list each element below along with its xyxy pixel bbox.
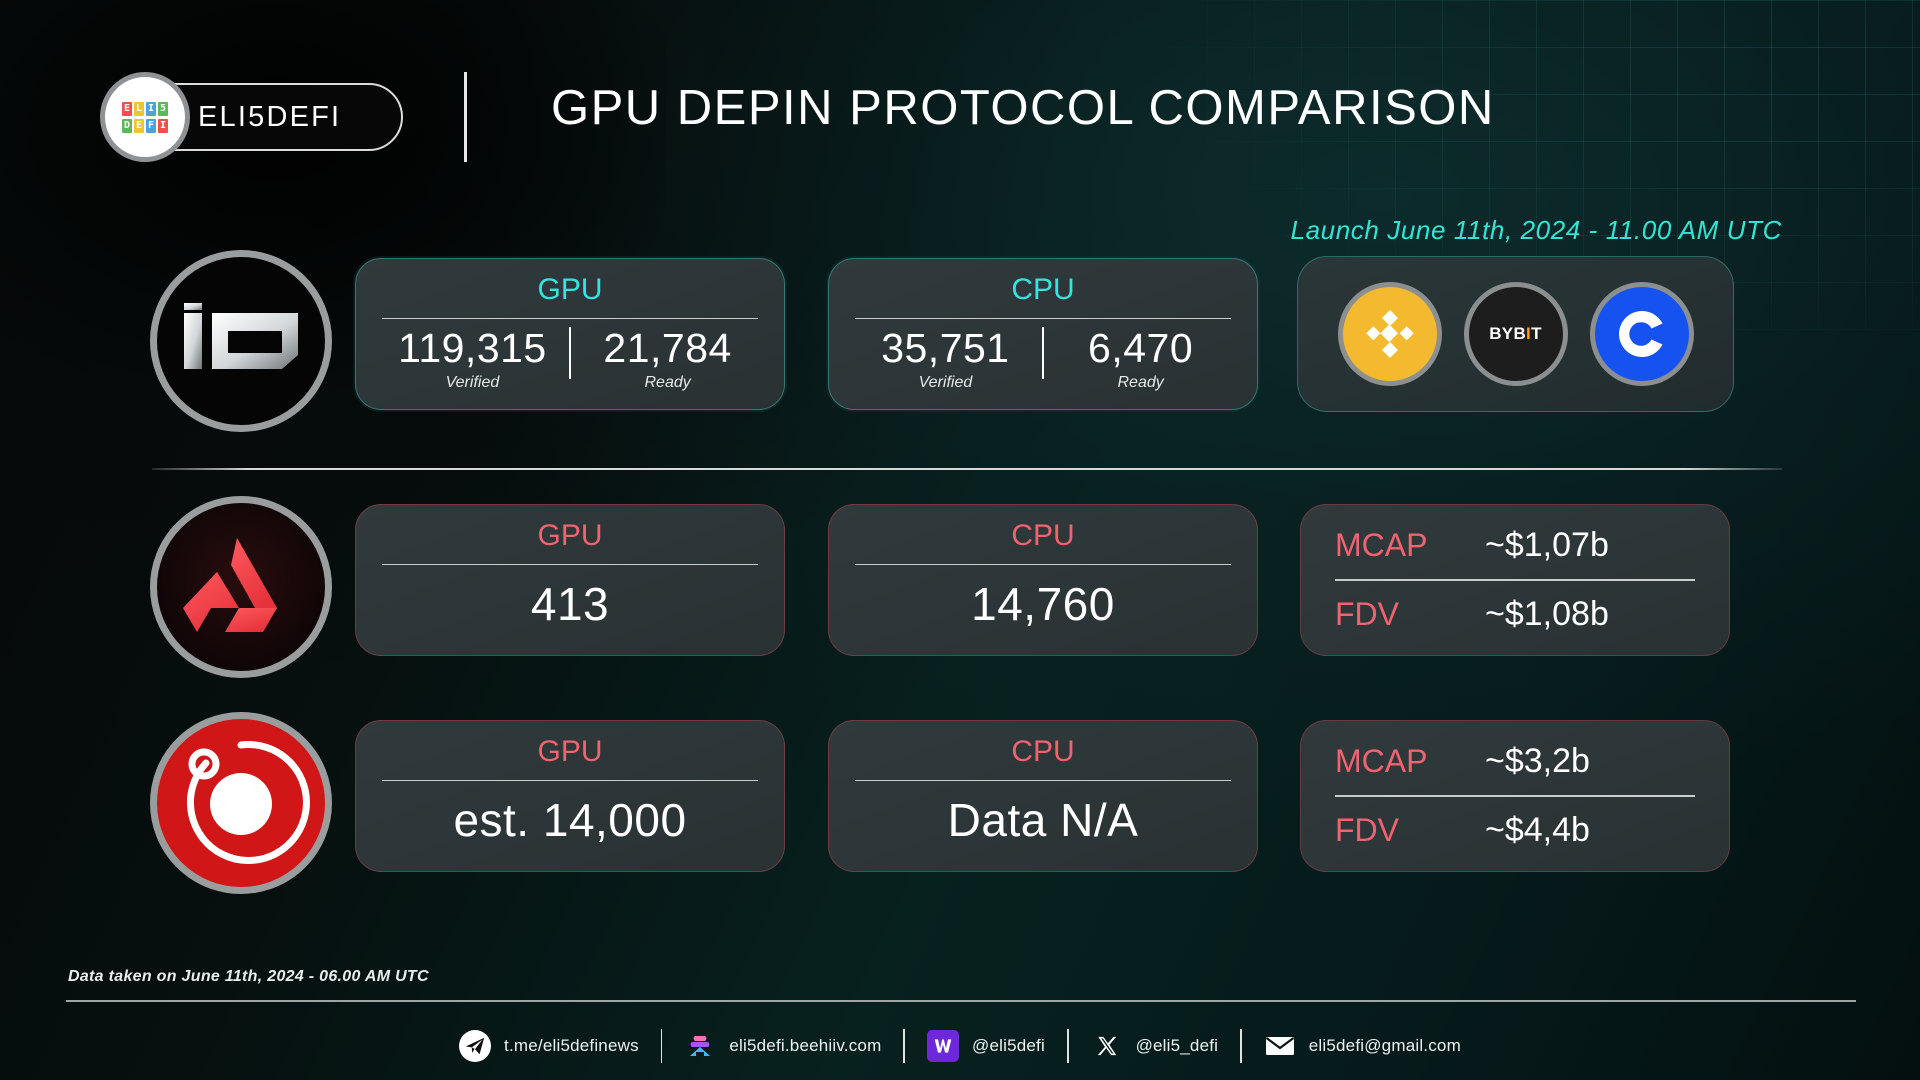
metric-value: ~$3,2b	[1485, 742, 1590, 781]
logo-letter: L	[134, 102, 144, 116]
beehiiv-icon	[684, 1030, 716, 1062]
card-rule	[855, 780, 1231, 782]
protocol-row-render: GPU est. 14,000 CPU Data N/A MCAP ~$3,2b…	[0, 712, 1920, 902]
card-rule	[382, 564, 758, 566]
binance-icon[interactable]	[1338, 282, 1442, 386]
footer-link-telegram[interactable]: t.me/eli5definews	[437, 1030, 661, 1062]
footer-link-label: @eli5_defi	[1136, 1036, 1219, 1056]
akash-glyph	[181, 532, 301, 642]
launch-note: Launch June 11th, 2024 - 11.00 AM UTC	[1291, 215, 1782, 246]
metric-label: Verified	[446, 374, 500, 392]
footer-link-label: @eli5defi	[972, 1036, 1045, 1056]
metric-value: 119,315	[398, 325, 547, 372]
bybit-icon[interactable]: BYBIT	[1464, 282, 1568, 386]
logo-letter: 5	[158, 102, 168, 116]
metric-value: est. 14,000	[453, 793, 686, 847]
metric-value: 6,470	[1088, 325, 1193, 372]
logo-letter: D	[122, 119, 132, 133]
footer-link-warpcast[interactable]: @eli5defi	[905, 1030, 1067, 1062]
render-logo-icon	[150, 712, 332, 894]
akash-logo-icon	[150, 496, 332, 678]
card-rule	[382, 318, 758, 320]
brand-label: ELI5DEFI	[198, 101, 341, 134]
metric-value: 35,751	[881, 325, 1009, 372]
infographic-stage: ELI5DEFI ELI5 DEFI GPU DEPIN PROTOCOL CO…	[0, 0, 1920, 1080]
warpcast-icon	[927, 1030, 959, 1062]
card-title: GPU	[537, 271, 602, 309]
card-split: 35,751 Verified 6,470 Ready	[855, 325, 1231, 392]
data-timestamp-note: Data taken on June 11th, 2024 - 06.00 AM…	[68, 968, 429, 986]
metric-row-mcap: MCAP ~$1,07b	[1335, 511, 1695, 579]
split-divider	[1042, 327, 1044, 379]
card-akash-valuation: MCAP ~$1,07b FDV ~$1,08b	[1300, 504, 1730, 656]
bybit-wordmark: BYBIT	[1489, 324, 1542, 344]
metric-label: Verified	[919, 374, 973, 392]
metric-row-mcap: MCAP ~$3,2b	[1335, 727, 1695, 795]
metric-value: ~$1,08b	[1485, 595, 1609, 634]
card-title: CPU	[1011, 271, 1074, 309]
eli5defi-logo-icon: ELI5 DEFI	[117, 102, 173, 133]
card-io-gpu: GPU 119,315 Verified 21,784 Ready	[355, 258, 785, 410]
card-render-valuation: MCAP ~$3,2b FDV ~$4,4b	[1300, 720, 1730, 872]
metric-label: Ready	[644, 374, 690, 392]
card-split: 119,315 Verified 21,784 Ready	[382, 325, 758, 392]
header-divider	[464, 72, 467, 162]
metric-value: 21,784	[603, 325, 731, 372]
split-cell-right: 6,470 Ready	[1050, 325, 1231, 392]
metric-key: MCAP	[1335, 743, 1485, 780]
metric-row-fdv: FDV ~$4,4b	[1335, 797, 1695, 865]
card-title: GPU	[537, 517, 602, 555]
footer-link-x[interactable]: @eli5_defi	[1069, 1030, 1241, 1062]
metric-value: ~$1,07b	[1485, 526, 1609, 565]
footer-links: t.me/eli5definews eli5defi.beehiiv.com @…	[0, 1012, 1920, 1080]
footer-link-beehiiv[interactable]: eli5defi.beehiiv.com	[662, 1030, 903, 1062]
logo-letter: F	[146, 119, 156, 133]
card-title: CPU	[1011, 517, 1074, 555]
card-akash-gpu: GPU 413	[355, 504, 785, 656]
metric-key: FDV	[1335, 812, 1485, 849]
coinbase-glyph	[1613, 305, 1671, 363]
metric-row-fdv: FDV ~$1,08b	[1335, 581, 1695, 649]
metric-value: 413	[531, 577, 609, 631]
logo-letter: E	[122, 102, 132, 116]
split-divider	[569, 327, 571, 379]
io-net-logo-icon	[150, 250, 332, 432]
footer-link-label: t.me/eli5definews	[504, 1036, 639, 1056]
metric-key: FDV	[1335, 596, 1485, 633]
card-rule	[855, 564, 1231, 566]
card-title: GPU	[537, 733, 602, 771]
card-rule	[855, 318, 1231, 320]
logo-letter: E	[134, 119, 144, 133]
brand-logo-badge: ELI5 DEFI	[100, 72, 190, 162]
card-io-cpu: CPU 35,751 Verified 6,470 Ready	[828, 258, 1258, 410]
footer-divider	[66, 1000, 1856, 1002]
split-cell-left: 35,751 Verified	[855, 325, 1036, 392]
split-cell-right: 21,784 Ready	[577, 325, 758, 392]
card-akash-cpu: CPU 14,760	[828, 504, 1258, 656]
binance-glyph	[1362, 306, 1418, 362]
page-title: GPU DEPIN PROTOCOL COMPARISON	[551, 80, 1495, 136]
metric-label: Ready	[1117, 374, 1163, 392]
footer-link-label: eli5defi.beehiiv.com	[729, 1036, 881, 1056]
exchange-listings-card: BYBIT	[1297, 256, 1734, 412]
card-title: CPU	[1011, 733, 1074, 771]
io-net-glyph	[182, 303, 300, 379]
card-render-cpu: CPU Data N/A	[828, 720, 1258, 872]
footer-link-email[interactable]: eli5defi@gmail.com	[1242, 1030, 1483, 1062]
logo-letter: I	[146, 102, 156, 116]
x-twitter-icon	[1091, 1030, 1123, 1062]
render-glyph	[166, 728, 316, 878]
card-rule	[382, 780, 758, 782]
row-separator	[152, 468, 1782, 470]
footer-link-label: eli5defi@gmail.com	[1309, 1036, 1461, 1056]
split-cell-left: 119,315 Verified	[382, 325, 563, 392]
metric-value: Data N/A	[948, 793, 1139, 847]
protocol-row-akash: GPU 413 CPU 14,760 MCAP ~$1,07b FDV ~$1,…	[0, 496, 1920, 686]
telegram-icon	[459, 1030, 491, 1062]
metric-key: MCAP	[1335, 527, 1485, 564]
card-render-gpu: GPU est. 14,000	[355, 720, 785, 872]
metric-value: ~$4,4b	[1485, 811, 1590, 850]
header: ELI5DEFI ELI5 DEFI GPU DEPIN PROTOCOL CO…	[0, 0, 1920, 175]
protocol-row-io-net: GPU 119,315 Verified 21,784 Ready CPU 35…	[0, 250, 1920, 440]
metric-value: 14,760	[971, 577, 1115, 631]
coinbase-icon[interactable]	[1590, 282, 1694, 386]
logo-letter: I	[158, 119, 168, 133]
email-icon	[1264, 1030, 1296, 1062]
